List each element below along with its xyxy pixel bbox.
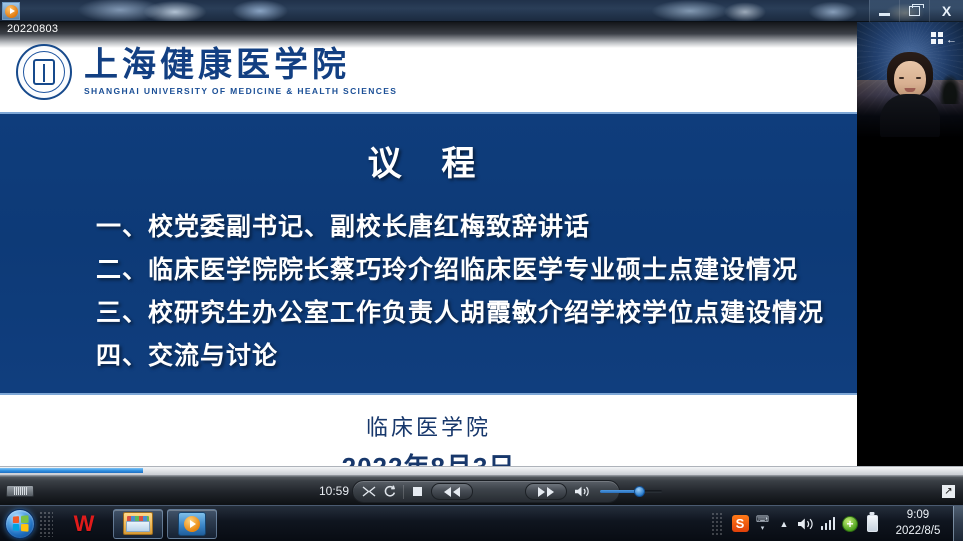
speaker-icon[interactable]: [574, 485, 591, 498]
tray-network[interactable]: [817, 510, 839, 538]
taskbar-clock[interactable]: 9:09 2022/8/5: [883, 508, 953, 539]
keyboard-icon: ⌨▾: [756, 515, 769, 533]
tray-ime-keyboard[interactable]: ⌨▾: [751, 510, 773, 538]
fast-forward-button[interactable]: [525, 483, 567, 500]
tray-security[interactable]: +: [839, 510, 861, 538]
player-control-bar: 10:59: [0, 476, 963, 505]
slide-title: 议 程: [0, 136, 857, 185]
agenda-item: 三、校研究生办公室工作负责人胡霞敏介绍学校学位点建设情况: [96, 291, 857, 334]
close-button[interactable]: X: [929, 0, 963, 22]
rewind-icon: [442, 487, 462, 497]
slide-footer-org: 临床医学院: [0, 410, 857, 442]
fast-forward-icon: [536, 487, 556, 497]
layout-grid-icon[interactable]: [931, 32, 943, 44]
agenda-item: 一、校党委副书记、副校长唐红梅致辞讲话: [96, 205, 857, 248]
signal-bars-icon: [821, 517, 836, 530]
minimize-icon: [879, 13, 890, 16]
university-logo: 上海健康医学院 SHANGHAI UNIVERSITY OF MEDICINE …: [16, 44, 397, 100]
agenda-item: 四、交流与讨论: [96, 334, 857, 377]
system-tray: S ⌨▾ ▲ +: [711, 506, 963, 541]
playback-progress-bar[interactable]: [0, 466, 963, 476]
agenda-list: 一、校党委副书记、副校长唐红梅致辞讲话 二、临床医学院院长蔡巧玲介绍临床医学专业…: [0, 205, 857, 377]
window-controls: X: [869, 0, 963, 22]
avatar-mouth: [905, 88, 916, 92]
clock-time: 9:09: [907, 508, 929, 524]
media-player-icon: [178, 512, 206, 536]
university-seal-icon: [16, 44, 72, 100]
battery-icon: [867, 515, 878, 532]
seek-handle[interactable]: [6, 485, 34, 497]
webcam-controls: ←: [931, 30, 957, 46]
restore-icon: [909, 6, 920, 16]
play-glyph: [5, 5, 18, 18]
play-glyph: [184, 516, 200, 532]
rewind-button[interactable]: [431, 483, 473, 500]
control-separator: [403, 485, 404, 499]
tray-battery[interactable]: [861, 510, 883, 538]
start-button[interactable]: [5, 509, 35, 539]
taskbar-item-media-player[interactable]: [167, 509, 217, 539]
repeat-icon[interactable]: [383, 485, 396, 498]
presenter-avatar: [876, 52, 944, 136]
taskbar-item-wps[interactable]: W: [59, 509, 109, 539]
desktop-screen: X 20220803 上海健康医学院 SHANGHAI UNIVERSITY O…: [0, 0, 963, 541]
windows-logo-icon: [13, 515, 29, 531]
slide-header: 20220803 上海健康医学院 SHANGHAI UNIVERSITY OF …: [0, 22, 857, 112]
speaker-icon: [797, 517, 815, 531]
tray-volume[interactable]: [795, 510, 817, 538]
volume-slider[interactable]: [600, 490, 662, 493]
stop-icon[interactable]: [411, 485, 424, 498]
shuffle-icon[interactable]: [362, 485, 376, 498]
taskbar-item-explorer[interactable]: [113, 509, 163, 539]
maximize-button[interactable]: [899, 0, 929, 22]
collapse-arrow-icon[interactable]: ←: [946, 35, 957, 46]
logo-text-block: 上海健康医学院 SHANGHAI UNIVERSITY OF MEDICINE …: [84, 48, 397, 97]
recording-date-stamp: 20220803: [7, 23, 58, 35]
video-surface[interactable]: 20220803 上海健康医学院 SHANGHAI UNIVERSITY OF …: [0, 22, 963, 474]
logo-name-en: SHANGHAI UNIVERSITY OF MEDICINE & HEALTH…: [84, 86, 397, 96]
avatar-eye-right: [916, 77, 921, 79]
presenter-video[interactable]: ←: [857, 22, 963, 137]
agenda-item: 二、临床医学院院长蔡巧玲介绍临床医学专业硕士点建设情况: [96, 248, 857, 291]
progress-fill: [0, 468, 143, 473]
media-player-icon: [2, 2, 20, 20]
transport-controls: [352, 480, 620, 503]
shield-plus-icon: +: [842, 516, 858, 532]
slide-footer: 临床医学院 2022年8月3日: [0, 397, 857, 474]
clock-date: 2022/8/5: [896, 524, 941, 540]
avatar-torso: [880, 94, 940, 137]
tray-show-hidden[interactable]: ▲: [773, 510, 795, 538]
logo-name-zh: 上海健康医学院: [84, 48, 397, 84]
taskbar-grip: [39, 511, 53, 537]
tray-sogou-ime[interactable]: S: [729, 510, 751, 538]
sogou-ime-icon: S: [732, 515, 749, 532]
resize-grip[interactable]: ↗: [942, 485, 955, 498]
show-desktop-button[interactable]: [953, 506, 963, 541]
slide-body: 议 程 一、校党委副书记、副校长唐红梅致辞讲话 二、临床医学院院长蔡巧玲介绍临床…: [0, 112, 857, 395]
elapsed-time-label: 10:59: [305, 484, 349, 498]
avatar-eye-left: [899, 77, 904, 79]
wps-office-icon: W: [74, 513, 95, 535]
window-titlebar[interactable]: X: [0, 0, 963, 22]
minimize-button[interactable]: [869, 0, 899, 22]
seal-core-glyph: [33, 59, 55, 85]
file-explorer-icon: [123, 512, 153, 535]
webcam-panel[interactable]: ←: [857, 22, 963, 474]
tray-grip: [711, 512, 723, 536]
volume-knob[interactable]: [634, 486, 645, 497]
presentation-slide: 20220803 上海健康医学院 SHANGHAI UNIVERSITY OF …: [0, 22, 857, 474]
windows-taskbar: W S ⌨▾ ▲: [0, 505, 963, 541]
